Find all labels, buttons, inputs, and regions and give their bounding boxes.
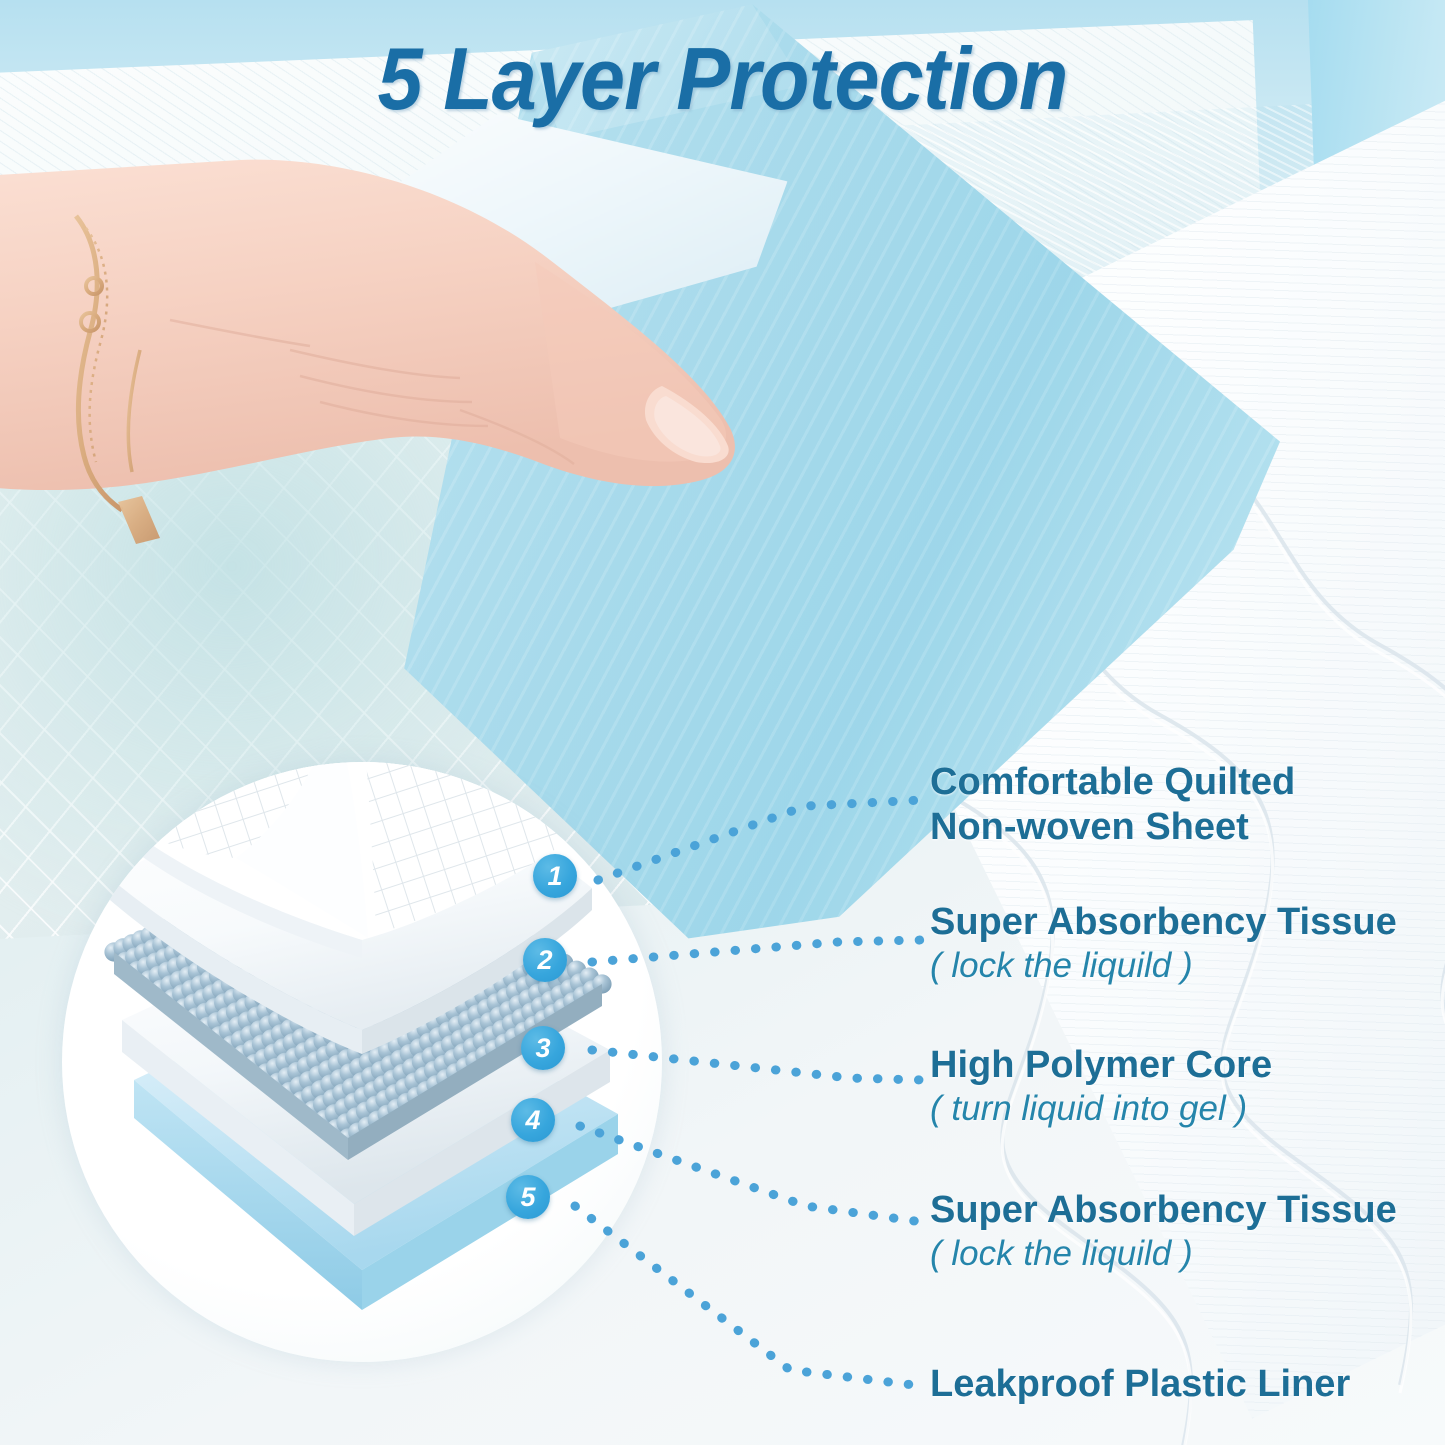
label-layer-4: Super Absorbency Tissue ( lock the liqui… <box>930 1188 1397 1275</box>
label-layer-4-sub: ( lock the liquild ) <box>930 1233 1397 1275</box>
label-layer-3: High Polymer Core ( turn liquid into gel… <box>930 1043 1272 1130</box>
label-layer-1: Comfortable Quilted Non-woven Sheet <box>930 760 1295 850</box>
label-layer-2: Super Absorbency Tissue ( lock the liqui… <box>930 900 1397 987</box>
label-layer-2-sub: ( lock the liquild ) <box>930 945 1397 987</box>
label-layer-5-line1: Leakproof Plastic Liner <box>930 1362 1350 1407</box>
label-layer-3-line1: High Polymer Core <box>930 1043 1272 1088</box>
label-layer-2-line1: Super Absorbency Tissue <box>930 900 1397 945</box>
label-layer-3-sub: ( turn liquid into gel ) <box>930 1088 1272 1130</box>
infographic-stage: 1 2 3 4 5 5 Layer Protection Comfortable… <box>0 0 1445 1445</box>
layer-labels: Comfortable Quilted Non-woven Sheet Supe… <box>0 0 1445 1445</box>
label-layer-1-line1: Comfortable Quilted <box>930 760 1295 805</box>
label-layer-1-line2: Non-woven Sheet <box>930 805 1295 850</box>
label-layer-4-line1: Super Absorbency Tissue <box>930 1188 1397 1233</box>
label-layer-5: Leakproof Plastic Liner <box>930 1362 1350 1407</box>
page-title: 5 Layer Protection <box>58 28 1387 130</box>
